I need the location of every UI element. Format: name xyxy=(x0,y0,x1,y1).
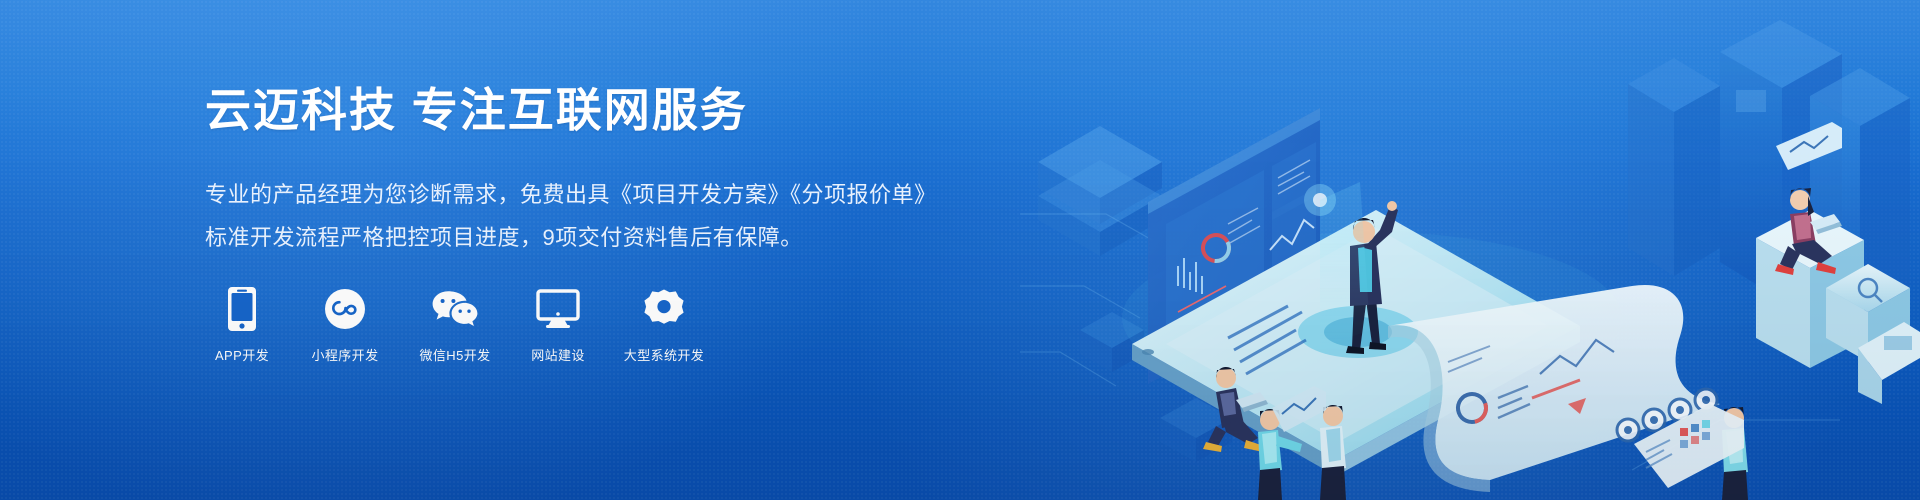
banner-content: 云迈科技 专注互联网服务 专业的产品经理为您诊断需求，免费出具《项目开发方案》《… xyxy=(200,0,960,500)
service-item-miniprogram[interactable]: 小程序开发 xyxy=(296,286,394,364)
service-label: 大型系统开发 xyxy=(612,345,716,364)
service-item-website[interactable]: 网站建设 xyxy=(516,286,600,364)
hero-banner: 云迈科技 专注互联网服务 专业的产品经理为您诊断需求，免费出具《项目开发方案》《… xyxy=(0,0,1920,500)
service-label: 网站建设 xyxy=(516,345,600,364)
monitor-icon xyxy=(516,286,600,332)
light-beam xyxy=(1320,182,1370,348)
service-list: APP开发 小程序开发 xyxy=(200,286,728,364)
service-item-wechat-h5[interactable]: 微信H5开发 xyxy=(406,286,504,364)
service-label: 小程序开发 xyxy=(296,345,394,364)
mini-program-icon xyxy=(296,286,394,332)
wechat-icon xyxy=(406,286,504,332)
service-label: 微信H5开发 xyxy=(406,345,504,364)
banner-headline: 云迈科技 专注互联网服务 xyxy=(205,74,748,140)
banner-subline-2: 标准开发流程严格把控项目进度，9项交付资料售后有保障。 xyxy=(205,220,803,252)
service-item-large-system[interactable]: 大型系统开发 xyxy=(612,286,716,364)
isometric-illustration xyxy=(1020,0,1920,500)
mobile-phone-icon xyxy=(200,286,284,332)
service-label: APP开发 xyxy=(200,345,284,364)
banner-subline-1: 专业的产品经理为您诊断需求，免费出具《项目开发方案》《分项报价单》 xyxy=(205,177,937,209)
gear-icon xyxy=(612,286,716,332)
service-item-app[interactable]: APP开发 xyxy=(200,286,284,364)
